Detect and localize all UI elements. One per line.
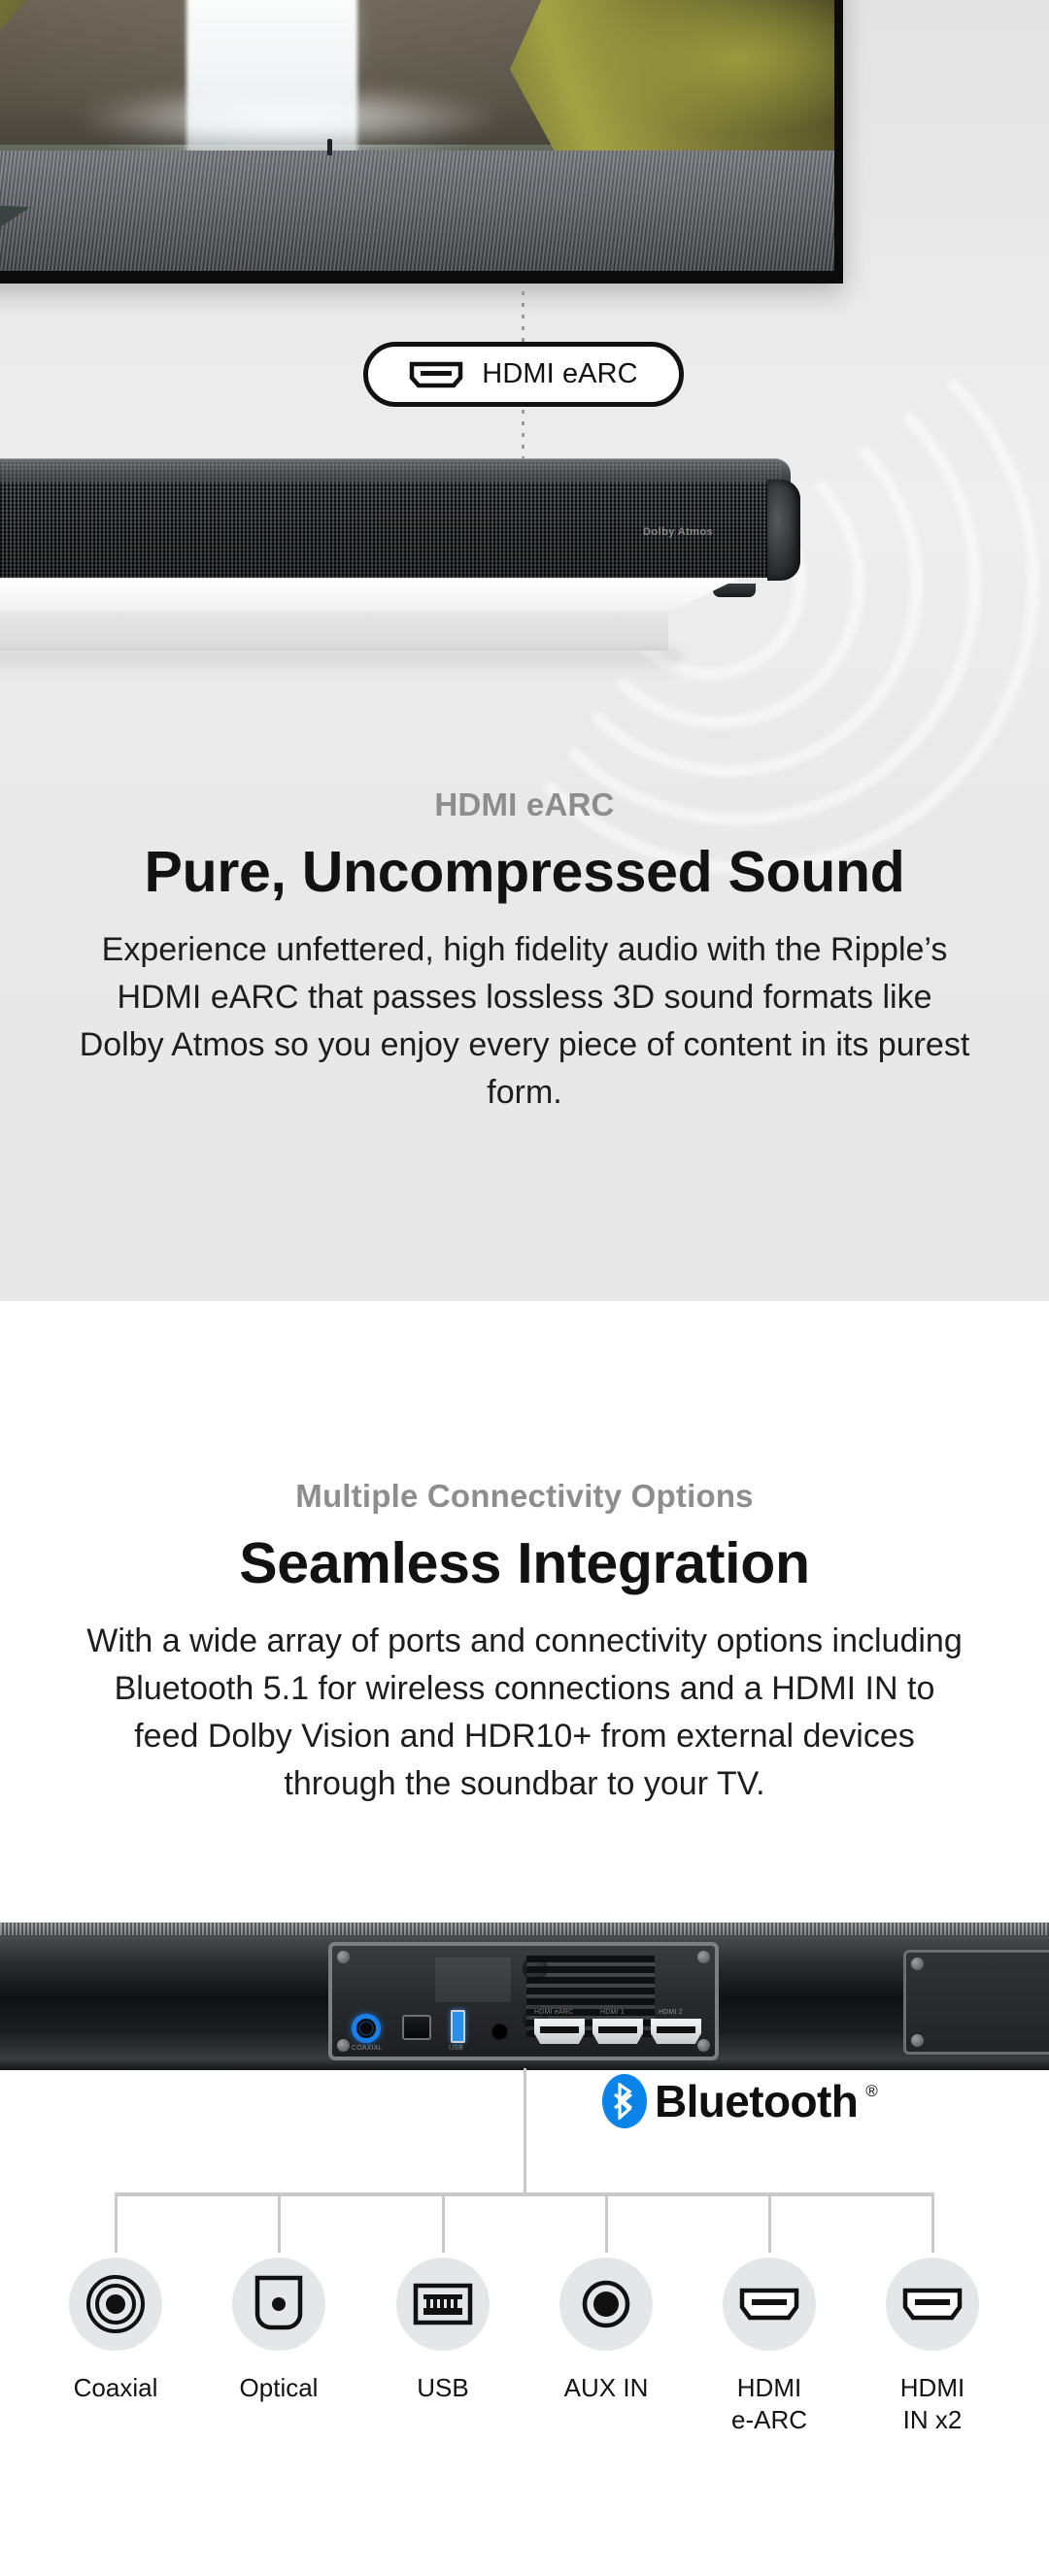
bluetooth-logo: Bluetooth ® bbox=[602, 2074, 878, 2128]
port-item-aux-in: AUX IN bbox=[549, 2258, 663, 2404]
micro-label-coaxial: COAXIAL bbox=[352, 2045, 383, 2052]
rear-secondary-panel bbox=[903, 1950, 1049, 2055]
connector-drop-coaxial bbox=[115, 2194, 118, 2253]
port-label-optical: Optical bbox=[221, 2372, 336, 2404]
soundbar-front: Dolby Atmos bbox=[0, 458, 796, 586]
hdmi-port-3 bbox=[651, 2019, 701, 2044]
optical-icon bbox=[232, 2258, 325, 2351]
bluetooth-icon bbox=[602, 2074, 647, 2128]
micro-label-hdmi2: HDMI 2 bbox=[659, 2009, 683, 2016]
micro-label-usb: USB bbox=[449, 2045, 463, 2052]
port-label-hdmi-in: HDMIIN x2 bbox=[875, 2372, 990, 2435]
connector-rail bbox=[115, 2192, 934, 2196]
port-label-hdmi-earc: HDMIe-ARC bbox=[712, 2372, 827, 2435]
warning-label bbox=[435, 1957, 511, 2002]
hdmi-port-icon bbox=[409, 361, 463, 388]
hdmi-earc-callout-label: HDMI eARC bbox=[482, 358, 637, 390]
port-label-aux-in: AUX IN bbox=[549, 2372, 663, 2404]
port-item-optical: Optical bbox=[221, 2258, 336, 2404]
usb-port bbox=[451, 2010, 465, 2043]
port-item-usb: USB bbox=[386, 2258, 500, 2404]
earc-eyebrow: HDMI eARC bbox=[0, 786, 1049, 823]
connector-tree bbox=[0, 2068, 1049, 2253]
bluetooth-wordmark: Bluetooth bbox=[655, 2075, 858, 2127]
tv-screen-waterfall-image bbox=[0, 0, 834, 271]
earc-copy-block: HDMI eARC Pure, Uncompressed Sound Exper… bbox=[0, 786, 1049, 1117]
port-label-coaxial: Coaxial bbox=[58, 2372, 173, 2404]
optical-port bbox=[402, 2015, 431, 2040]
rear-port-panel: COAXIAL USB HDMI eARC HDMI 1 HDMI 2 bbox=[328, 1942, 719, 2060]
connector-trunk bbox=[524, 2068, 526, 2194]
dotted-connector-top bbox=[522, 291, 524, 342]
earc-body-text: Experience unfettered, high fidelity aud… bbox=[78, 926, 971, 1117]
television bbox=[0, 0, 843, 284]
usb-icon bbox=[396, 2258, 490, 2351]
hdmi-port-icon bbox=[723, 2258, 816, 2351]
connectivity-eyebrow: Multiple Connectivity Options bbox=[0, 1478, 1049, 1515]
port-item-coaxial: Coaxial bbox=[58, 2258, 173, 2404]
port-item-hdmi-in: HDMIIN x2 bbox=[875, 2258, 990, 2435]
hdmi-port-1 bbox=[534, 2019, 585, 2044]
bluetooth-trademark: ® bbox=[865, 2082, 878, 2101]
connector-drop-earc bbox=[768, 2194, 771, 2253]
connector-drop-optical bbox=[278, 2194, 281, 2253]
micro-label-hdmi1: HDMI 1 bbox=[600, 2009, 625, 2016]
connectivity-body-text: With a wide array of ports and connectiv… bbox=[78, 1618, 971, 1808]
connectivity-copy-block: Multiple Connectivity Options Seamless I… bbox=[0, 1478, 1049, 1808]
product-feature-page: HDMI eARC Dolby Atmos HDMI eARC Pure, Un… bbox=[0, 0, 1049, 2576]
wall-shelf bbox=[0, 579, 738, 654]
earc-headline: Pure, Uncompressed Sound bbox=[0, 839, 1049, 905]
micro-label-earc: HDMI eARC bbox=[534, 2009, 573, 2016]
soundbar-rear: COAXIAL USB HDMI eARC HDMI 1 HDMI 2 bbox=[0, 1923, 1049, 2070]
connector-drop-usb bbox=[442, 2194, 445, 2253]
coaxial-port bbox=[352, 2014, 381, 2043]
hdmi-port-icon bbox=[886, 2258, 979, 2351]
connector-drop-aux bbox=[605, 2194, 608, 2253]
dotted-connector-bottom bbox=[522, 410, 524, 458]
connectivity-headline: Seamless Integration bbox=[0, 1530, 1049, 1596]
hdmi-port-2 bbox=[592, 2019, 643, 2044]
hero-section: HDMI eARC Dolby Atmos HDMI eARC Pure, Un… bbox=[0, 0, 1049, 1301]
aux-jack-icon bbox=[559, 2258, 653, 2351]
coaxial-icon bbox=[69, 2258, 162, 2351]
hdmi-earc-callout-badge: HDMI eARC bbox=[363, 342, 684, 407]
person-silhouette bbox=[327, 139, 332, 155]
connector-drop-hdmiin bbox=[931, 2194, 934, 2253]
aux-port bbox=[491, 2024, 508, 2040]
dolby-atmos-mark: Dolby Atmos bbox=[643, 526, 713, 538]
port-item-hdmi-earc: HDMIe-ARC bbox=[712, 2258, 827, 2435]
port-label-usb: USB bbox=[386, 2372, 500, 2404]
